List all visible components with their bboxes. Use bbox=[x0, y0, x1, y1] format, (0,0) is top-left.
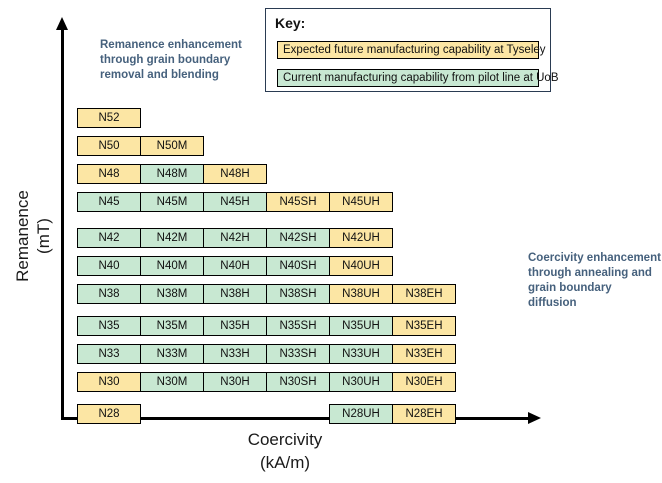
grade-cell-n30uh[interactable]: N30UH bbox=[329, 372, 393, 392]
grade-cell-n33m[interactable]: N33M bbox=[140, 344, 204, 364]
grade-cell-n28eh[interactable]: N28EH bbox=[392, 404, 456, 424]
grade-cell-n38[interactable]: N38 bbox=[77, 284, 141, 304]
grade-cell-n48h[interactable]: N48H bbox=[203, 164, 267, 184]
grade-cell-n48m[interactable]: N48M bbox=[140, 164, 204, 184]
annotation-remanence: Remanence enhancement through grain boun… bbox=[100, 38, 250, 83]
grade-cell-n30eh[interactable]: N30EH bbox=[392, 372, 456, 392]
grade-cell-n33uh[interactable]: N33UH bbox=[329, 344, 393, 364]
grade-cell-n35eh[interactable]: N35EH bbox=[392, 316, 456, 336]
grade-cell-n50[interactable]: N50 bbox=[77, 136, 141, 156]
grade-cell-n40uh[interactable]: N40UH bbox=[329, 256, 393, 276]
grade-row: N45N45MN45HN45SHN45UH bbox=[77, 192, 393, 212]
grade-cell-empty bbox=[203, 404, 267, 424]
legend-box: Key: Expected future manufacturing capab… bbox=[265, 8, 551, 92]
y-axis-title: Remanence (mT) bbox=[12, 156, 54, 316]
grade-cell-n40[interactable]: N40 bbox=[77, 256, 141, 276]
grade-cell-n45h[interactable]: N45H bbox=[203, 192, 267, 212]
grade-cell-n30sh[interactable]: N30SH bbox=[266, 372, 330, 392]
grade-row: N52 bbox=[77, 108, 141, 128]
chart-canvas: Remanence (mT) Coercivity (kA/m) Key: Ex… bbox=[0, 0, 662, 483]
annotation-coercivity: Coercivity enhancement through annealing… bbox=[528, 251, 661, 311]
grade-cell-n42h[interactable]: N42H bbox=[203, 228, 267, 248]
grade-row: N30N30MN30HN30SHN30UHN30EH bbox=[77, 372, 456, 392]
grade-cell-n38eh[interactable]: N38EH bbox=[392, 284, 456, 304]
grade-cell-empty bbox=[266, 404, 330, 424]
grade-cell-n30h[interactable]: N30H bbox=[203, 372, 267, 392]
grade-cell-n33h[interactable]: N33H bbox=[203, 344, 267, 364]
grade-row: N40N40MN40HN40SHN40UH bbox=[77, 256, 393, 276]
grade-cell-n42sh[interactable]: N42SH bbox=[266, 228, 330, 248]
grade-cell-empty bbox=[140, 404, 204, 424]
grade-row: N42N42MN42HN42SHN42UH bbox=[77, 228, 393, 248]
grade-cell-n42uh[interactable]: N42UH bbox=[329, 228, 393, 248]
legend-title: Key: bbox=[275, 15, 305, 31]
grade-cell-n42[interactable]: N42 bbox=[77, 228, 141, 248]
grade-cell-n40sh[interactable]: N40SH bbox=[266, 256, 330, 276]
grade-cell-n45sh[interactable]: N45SH bbox=[266, 192, 330, 212]
grade-row: N28N28UHN28EH bbox=[77, 404, 456, 424]
grade-cell-n38m[interactable]: N38M bbox=[140, 284, 204, 304]
grade-cell-n35h[interactable]: N35H bbox=[203, 316, 267, 336]
grade-cell-n30[interactable]: N30 bbox=[77, 372, 141, 392]
grade-cell-n35m[interactable]: N35M bbox=[140, 316, 204, 336]
y-axis-arrow-icon bbox=[56, 17, 68, 30]
grade-cell-n45uh[interactable]: N45UH bbox=[329, 192, 393, 212]
grade-cell-n52[interactable]: N52 bbox=[77, 108, 141, 128]
grade-row: N33N33MN33HN33SHN33UHN33EH bbox=[77, 344, 456, 364]
grade-cell-n40h[interactable]: N40H bbox=[203, 256, 267, 276]
y-axis-line bbox=[61, 28, 64, 420]
grade-cell-n50m[interactable]: N50M bbox=[140, 136, 204, 156]
grade-cell-n35[interactable]: N35 bbox=[77, 316, 141, 336]
grade-cell-n45m[interactable]: N45M bbox=[140, 192, 204, 212]
grade-cell-n33eh[interactable]: N33EH bbox=[392, 344, 456, 364]
x-axis-arrow-icon bbox=[528, 412, 541, 424]
grade-row: N38N38MN38HN38SHN38UHN38EH bbox=[77, 284, 456, 304]
grade-cell-n48[interactable]: N48 bbox=[77, 164, 141, 184]
grade-cell-n35uh[interactable]: N35UH bbox=[329, 316, 393, 336]
grade-cell-n35sh[interactable]: N35SH bbox=[266, 316, 330, 336]
grade-cell-n42m[interactable]: N42M bbox=[140, 228, 204, 248]
grade-cell-n38uh[interactable]: N38UH bbox=[329, 284, 393, 304]
legend-item-future-capability: Expected future manufacturing capability… bbox=[277, 41, 539, 59]
legend-item-current-capability: Current manufacturing capability from pi… bbox=[277, 69, 539, 87]
grade-cell-n33[interactable]: N33 bbox=[77, 344, 141, 364]
grade-row: N35N35MN35HN35SHN35UHN35EH bbox=[77, 316, 456, 336]
grade-cell-n38h[interactable]: N38H bbox=[203, 284, 267, 304]
grade-cell-n45[interactable]: N45 bbox=[77, 192, 141, 212]
grade-cell-n38sh[interactable]: N38SH bbox=[266, 284, 330, 304]
grade-cell-n28uh[interactable]: N28UH bbox=[329, 404, 393, 424]
x-axis-title: Coercivity (kA/m) bbox=[205, 428, 365, 474]
grade-cell-n40m[interactable]: N40M bbox=[140, 256, 204, 276]
grade-row: N50N50M bbox=[77, 136, 204, 156]
grade-cell-n33sh[interactable]: N33SH bbox=[266, 344, 330, 364]
grade-cell-n28[interactable]: N28 bbox=[77, 404, 141, 424]
grade-row: N48N48MN48H bbox=[77, 164, 267, 184]
grade-cell-n30m[interactable]: N30M bbox=[140, 372, 204, 392]
